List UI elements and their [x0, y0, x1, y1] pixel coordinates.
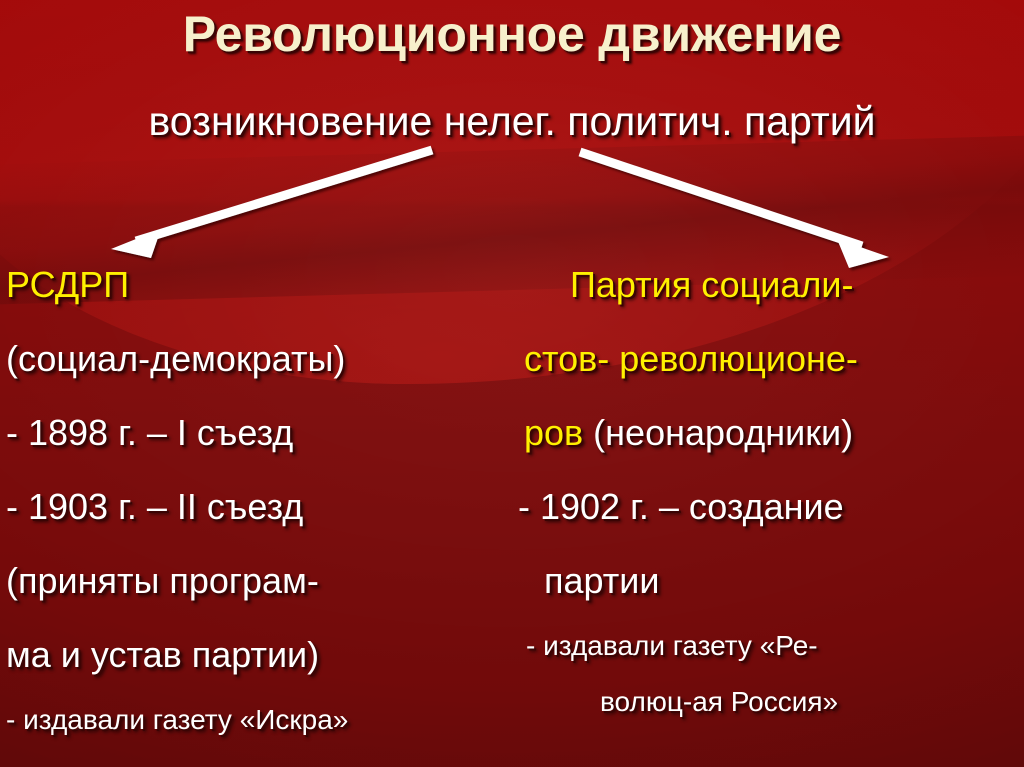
- rsdrp-line-1898: - 1898 г. – I съезд: [6, 396, 506, 470]
- slide-title: Революционное движение: [0, 6, 1024, 62]
- esers-heading-line-3: ров (неонародники): [512, 396, 1012, 470]
- rsdrp-line-1903: - 1903 г. – II съезд: [6, 470, 506, 544]
- esers-heading-line-3-rest: (неонародники): [583, 412, 853, 453]
- content-columns: РСДРП (социал-демократы) - 1898 г. – I с…: [0, 248, 1024, 767]
- rsdrp-heading: РСДРП: [6, 248, 506, 322]
- slide-canvas: Революционное движение возникновение нел…: [0, 0, 1024, 767]
- slide-subtitle: возникновение нелег. политич. партий: [0, 98, 1024, 145]
- rsdrp-line-social-democrats: (социал-демократы): [6, 322, 506, 396]
- esers-footnote-line-1: - издавали газету «Ре-: [512, 618, 1012, 674]
- esers-footnote-line-2: волюц-ая Россия»: [512, 674, 1012, 730]
- esers-heading-line-2: стов- революционе-: [512, 322, 1012, 396]
- column-esers: Партия социали- стов- революционе- ров (…: [512, 248, 1012, 730]
- esers-line-party: партии: [512, 544, 1012, 618]
- column-rsdrp: РСДРП (социал-демократы) - 1898 г. – I с…: [6, 248, 506, 748]
- esers-line-1902: - 1902 г. – создание: [512, 470, 1012, 544]
- esers-heading-line-1: Партия социали-: [512, 248, 1012, 322]
- rsdrp-line-program-part2: ма и устав партии): [6, 618, 506, 692]
- rsdrp-line-program-part1: (приняты програм-: [6, 544, 506, 618]
- esers-heading-line-3-highlight: ров: [524, 412, 583, 453]
- rsdrp-footnote-iskra: - издавали газету «Искра»: [6, 692, 506, 748]
